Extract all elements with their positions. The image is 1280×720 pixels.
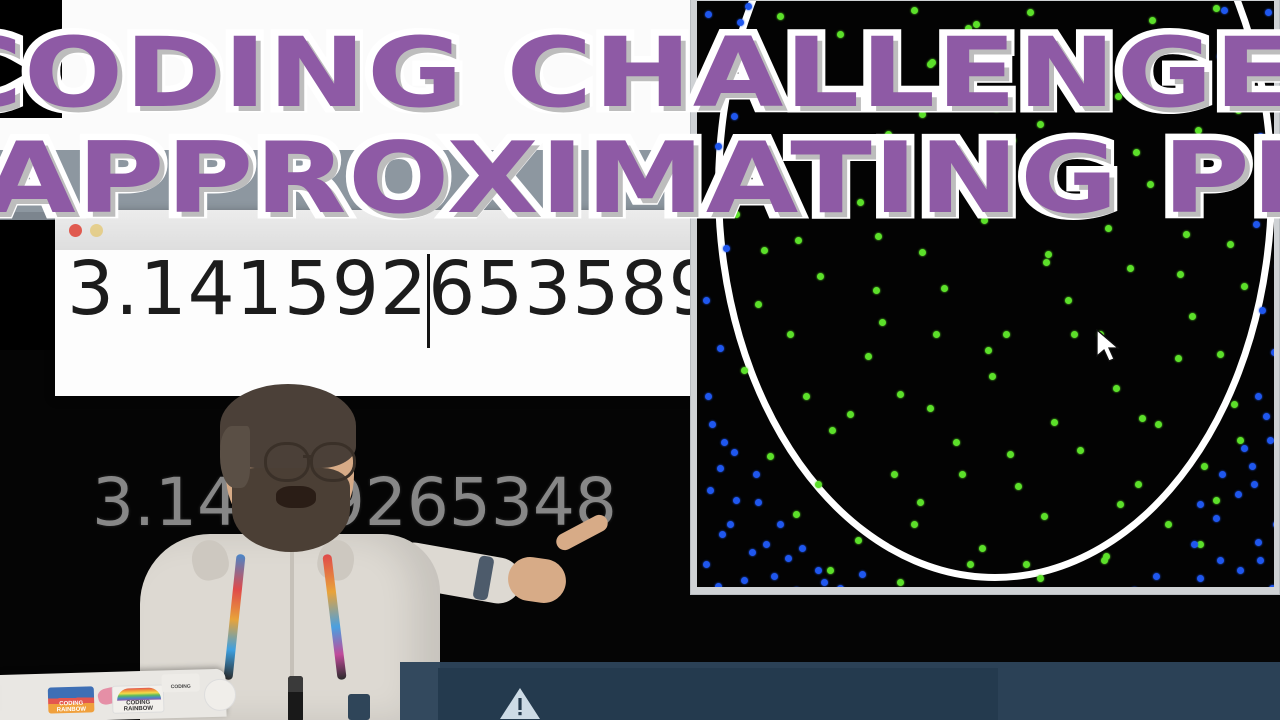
bottom-blue-small-panel xyxy=(348,694,370,720)
outside-point xyxy=(1273,521,1274,528)
inside-point xyxy=(1167,197,1174,204)
sticker-coding-rainbow-3: CODING xyxy=(161,673,199,692)
outside-point xyxy=(741,577,748,584)
inside-point xyxy=(1149,17,1156,24)
outside-point xyxy=(1253,221,1260,228)
inside-point xyxy=(733,211,740,218)
outside-point xyxy=(821,579,828,586)
outside-point xyxy=(715,583,722,587)
outside-point xyxy=(1269,177,1274,184)
inside-point xyxy=(911,521,918,528)
inside-point xyxy=(947,165,954,172)
pi-value-text: 3.141592653589 xyxy=(67,246,697,332)
inside-point xyxy=(1003,331,1010,338)
inside-point xyxy=(993,105,1000,112)
inside-point xyxy=(927,405,934,412)
outside-point xyxy=(1249,45,1256,52)
inside-point xyxy=(1235,107,1242,114)
inside-point xyxy=(891,471,898,478)
outside-point xyxy=(1265,9,1272,16)
inside-point xyxy=(1023,561,1030,568)
outside-point xyxy=(1263,413,1270,420)
inside-point xyxy=(817,273,824,280)
inside-point xyxy=(1227,241,1234,248)
inside-point xyxy=(1089,35,1096,42)
outside-point xyxy=(1235,491,1242,498)
outside-point xyxy=(707,487,714,494)
inside-point xyxy=(1195,127,1202,134)
presenter-mouth xyxy=(276,486,316,508)
outside-point xyxy=(727,41,734,48)
inside-point xyxy=(865,353,872,360)
inside-point xyxy=(1071,331,1078,338)
inside-point xyxy=(827,567,834,574)
inside-point xyxy=(805,67,812,74)
inside-point xyxy=(1113,385,1120,392)
inside-point xyxy=(1127,265,1134,272)
inside-point xyxy=(741,367,748,374)
outside-point xyxy=(715,143,722,150)
inside-point xyxy=(1101,557,1108,564)
inside-point xyxy=(803,393,810,400)
inside-point xyxy=(979,545,986,552)
outside-point xyxy=(745,3,752,10)
outside-point xyxy=(1267,437,1274,444)
inside-point xyxy=(965,25,972,32)
window-title-bar[interactable] xyxy=(55,210,697,251)
outside-point xyxy=(753,65,760,72)
inside-point xyxy=(897,391,904,398)
outside-point xyxy=(1249,463,1256,470)
sticker-coding-rainbow-1: CODING RAINBOW xyxy=(48,686,95,713)
outside-point xyxy=(1237,31,1244,38)
sketch-window[interactable] xyxy=(690,0,1280,595)
inside-point xyxy=(767,453,774,460)
outside-point xyxy=(755,499,762,506)
monte-carlo-canvas[interactable] xyxy=(697,1,1274,587)
inside-point xyxy=(1155,421,1162,428)
inside-point xyxy=(759,143,766,150)
inside-point xyxy=(1231,401,1238,408)
inside-point xyxy=(985,347,992,354)
outside-point xyxy=(1273,89,1274,96)
inside-point xyxy=(1043,259,1050,266)
inside-point xyxy=(959,471,966,478)
inside-point xyxy=(1065,297,1072,304)
inside-point xyxy=(1037,121,1044,128)
inside-point xyxy=(1213,497,1220,504)
inside-point xyxy=(927,61,934,68)
inside-point xyxy=(823,171,830,178)
window-body: 3.141592653589 xyxy=(55,250,697,396)
inside-point xyxy=(1009,137,1016,144)
inside-point xyxy=(885,131,892,138)
inside-point xyxy=(1175,63,1182,70)
inside-point xyxy=(989,373,996,380)
outside-point xyxy=(705,11,712,18)
inside-point xyxy=(897,579,904,586)
inside-point xyxy=(761,247,768,254)
outside-point xyxy=(705,393,712,400)
outside-point xyxy=(719,531,726,538)
outside-point xyxy=(1237,567,1244,574)
outside-point xyxy=(709,421,716,428)
outside-point xyxy=(1241,445,1248,452)
inside-point xyxy=(867,99,874,106)
outside-point xyxy=(703,297,710,304)
inside-point xyxy=(941,285,948,292)
inside-point xyxy=(1213,5,1220,12)
outside-point xyxy=(859,571,866,578)
glasses-lens-right-icon xyxy=(310,442,356,482)
inside-point xyxy=(953,439,960,446)
outside-point xyxy=(733,497,740,504)
outside-point xyxy=(1221,7,1228,14)
inside-point xyxy=(873,287,880,294)
inside-point xyxy=(1051,419,1058,426)
outside-point xyxy=(737,19,744,26)
sticker-edge xyxy=(0,685,2,711)
inside-point xyxy=(847,91,854,98)
inside-point xyxy=(847,411,854,418)
outside-point xyxy=(1257,133,1264,140)
outside-point xyxy=(703,561,710,568)
arrow-cursor-icon xyxy=(1095,329,1121,363)
inside-point xyxy=(1077,447,1084,454)
inside-point xyxy=(875,233,882,240)
inside-point xyxy=(1139,415,1146,422)
outside-point xyxy=(1255,539,1262,546)
inside-point xyxy=(1105,225,1112,232)
inside-point xyxy=(1117,501,1124,508)
inside-point xyxy=(1245,161,1252,168)
outside-point xyxy=(727,521,734,528)
inside-point xyxy=(1189,313,1196,320)
inside-point xyxy=(987,193,994,200)
inside-point xyxy=(829,427,836,434)
outside-point xyxy=(1259,307,1266,314)
inside-point xyxy=(777,13,784,20)
inside-point xyxy=(1177,271,1184,278)
inside-point xyxy=(743,85,750,92)
outside-point xyxy=(799,545,806,552)
inside-point xyxy=(1143,41,1150,48)
inside-point xyxy=(1015,483,1022,490)
minimize-icon[interactable] xyxy=(90,224,103,237)
inside-point xyxy=(857,199,864,206)
inside-point xyxy=(1053,75,1060,82)
background-left-black-strip xyxy=(0,220,60,350)
rainbow-icon xyxy=(117,687,161,700)
inside-point xyxy=(911,7,918,14)
inside-point xyxy=(855,537,862,544)
inside-point xyxy=(1045,251,1052,258)
unit-circle-outline xyxy=(715,1,1274,581)
text-caret xyxy=(427,254,430,348)
inside-point xyxy=(793,511,800,518)
sticker-coding-rainbow-2: CODING RAINBOW xyxy=(112,684,165,713)
inside-point xyxy=(795,237,802,244)
inside-point xyxy=(973,21,980,28)
bottom-blue-left xyxy=(400,662,440,720)
outside-point xyxy=(1269,585,1274,587)
inside-point xyxy=(957,141,964,148)
outside-point xyxy=(763,541,770,548)
inside-point xyxy=(815,481,822,488)
inside-point xyxy=(787,331,794,338)
inside-point xyxy=(1147,181,1154,188)
inside-point xyxy=(755,301,762,308)
outside-point xyxy=(1233,71,1240,78)
outside-point xyxy=(717,465,724,472)
outside-point xyxy=(731,113,738,120)
laptop-lid: CODING RAINBOW CODING RAINBOW CODING xyxy=(0,669,227,720)
inside-point xyxy=(1007,451,1014,458)
outside-point xyxy=(703,97,710,104)
inside-point xyxy=(919,111,926,118)
outside-point xyxy=(1271,349,1274,356)
inside-point xyxy=(1031,61,1038,68)
inside-point xyxy=(919,249,926,256)
inside-point xyxy=(879,319,886,326)
inside-point xyxy=(1197,541,1204,548)
warning-triangle-icon xyxy=(498,686,542,720)
outside-point xyxy=(723,245,730,252)
presenter-marker-cap xyxy=(288,676,303,692)
inside-point xyxy=(837,31,844,38)
outside-point xyxy=(1217,557,1224,564)
outside-point xyxy=(1257,557,1264,564)
outside-point xyxy=(837,585,844,587)
inside-point xyxy=(1217,351,1224,358)
inside-point xyxy=(1071,179,1078,186)
outside-point xyxy=(1197,575,1204,582)
pi-output-window[interactable]: 3.141592653589 xyxy=(55,210,697,396)
inside-point xyxy=(1183,231,1190,238)
outside-point xyxy=(1219,471,1226,478)
outside-point xyxy=(753,471,760,478)
outside-point xyxy=(815,567,822,574)
inside-point xyxy=(1027,9,1034,16)
glasses-bridge xyxy=(303,455,312,458)
background-black-strip xyxy=(0,0,62,118)
glasses-lens-left-icon xyxy=(264,442,310,482)
outside-point xyxy=(1191,541,1198,548)
inside-point xyxy=(967,561,974,568)
inside-point xyxy=(1175,355,1182,362)
outside-point xyxy=(777,521,784,528)
outside-point xyxy=(1217,53,1224,60)
inside-point xyxy=(1135,481,1142,488)
outside-point xyxy=(785,555,792,562)
outside-point xyxy=(771,573,778,580)
inside-point xyxy=(917,499,924,506)
inside-point xyxy=(1241,283,1248,290)
inside-point xyxy=(1115,93,1122,100)
background-gray-band xyxy=(0,150,700,212)
outside-point xyxy=(1197,501,1204,508)
inside-point xyxy=(1201,463,1208,470)
outside-point xyxy=(749,549,756,556)
inside-point xyxy=(1099,151,1106,158)
presenter-sideburn xyxy=(220,426,250,488)
outside-point xyxy=(1213,515,1220,522)
inside-point xyxy=(1133,149,1140,156)
inside-point xyxy=(805,151,812,158)
outside-point xyxy=(717,345,724,352)
outside-point xyxy=(721,439,728,446)
outside-point xyxy=(731,449,738,456)
inside-point xyxy=(981,217,988,224)
inside-point xyxy=(933,331,940,338)
close-icon[interactable] xyxy=(69,224,82,237)
inside-point xyxy=(1041,513,1048,520)
outside-point xyxy=(1255,393,1262,400)
outside-point xyxy=(707,197,714,204)
outside-point xyxy=(1153,573,1160,580)
inside-point xyxy=(1165,521,1172,528)
youtube-thumbnail: 3.14159265348 3.141592653589 xyxy=(0,0,1280,720)
outside-point xyxy=(721,47,728,54)
inside-point xyxy=(1237,437,1244,444)
inside-point xyxy=(1037,575,1044,582)
outside-point xyxy=(1251,481,1258,488)
inside-point xyxy=(1067,211,1074,218)
